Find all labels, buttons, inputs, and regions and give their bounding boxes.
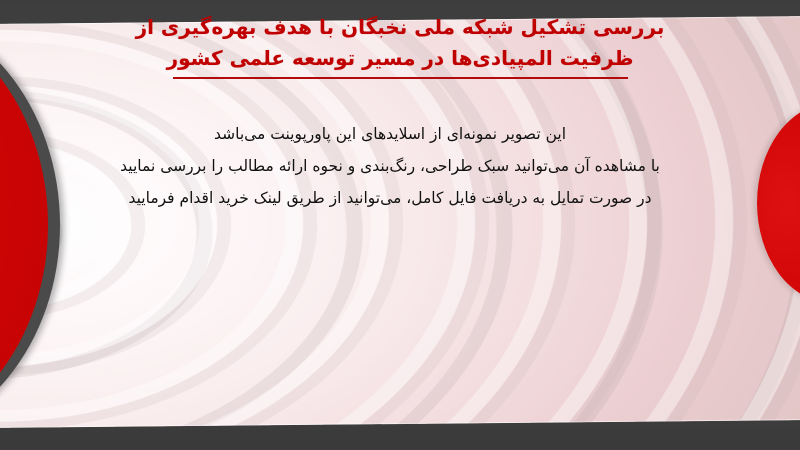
slide-title-line-1: بررسی تشکیل شبکه ملی نخبگان با هدف بهره‌… xyxy=(0,12,800,43)
slide-body-block: این تصویر نمونه‌ای از اسلایدهای این پاور… xyxy=(40,118,740,214)
presentation-slide: بررسی تشکیل شبکه ملی نخبگان با هدف بهره‌… xyxy=(0,0,800,450)
title-underline-rule xyxy=(173,77,628,79)
slide-body-line-1: این تصویر نمونه‌ای از اسلایدهای این پاور… xyxy=(40,118,740,150)
slide-content: بررسی تشکیل شبکه ملی نخبگان با هدف بهره‌… xyxy=(0,0,800,450)
slide-body-line-2: با مشاهده آن می‌توانید سبک طراحی، رنگ‌بن… xyxy=(40,150,740,182)
slide-body-line-3: در صورت تمایل به دریافت فایل کامل، می‌تو… xyxy=(40,182,740,214)
slide-title-block: بررسی تشکیل شبکه ملی نخبگان با هدف بهره‌… xyxy=(0,12,800,79)
slide-title-line-2: ظرفیت المپیادی‌ها در مسیر توسعه علمی کشو… xyxy=(0,43,800,74)
